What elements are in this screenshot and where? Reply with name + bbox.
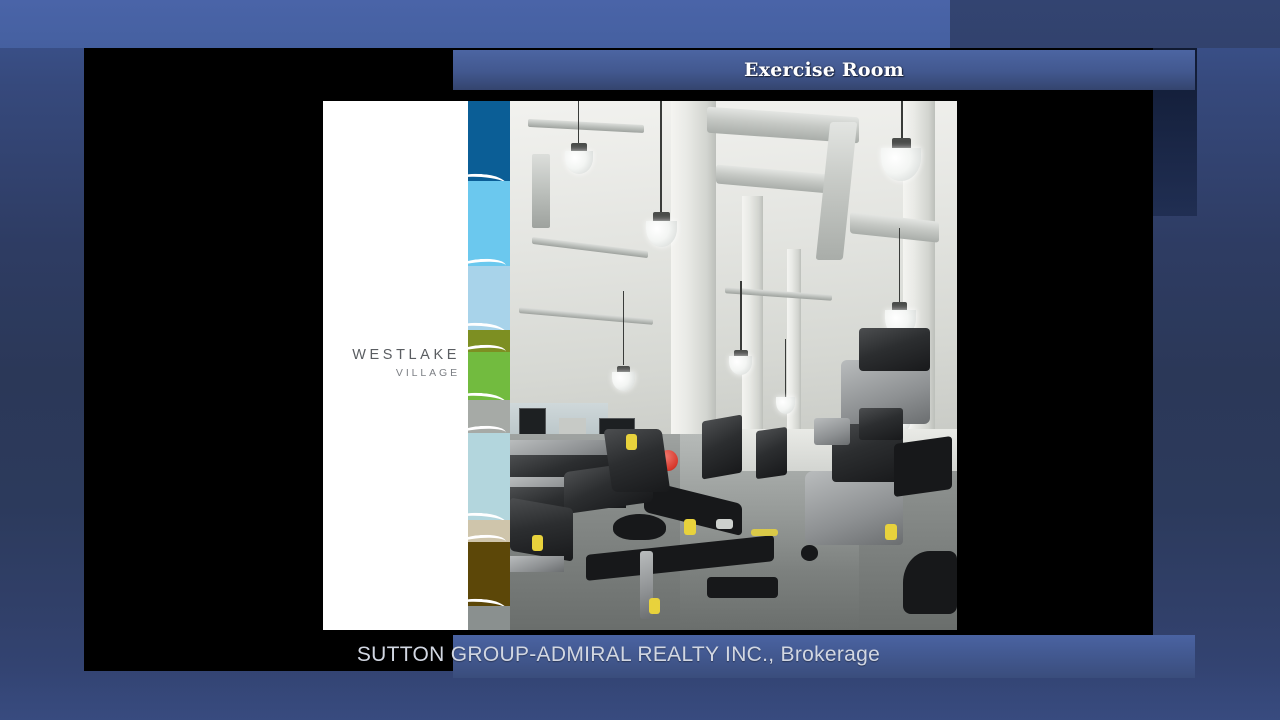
photo-floor-object — [716, 519, 734, 530]
photo-machine-back-far — [859, 408, 904, 440]
brand-color-strip — [468, 101, 510, 630]
color-band-pale-cyan — [468, 433, 510, 520]
logo-brand-name: WESTLAKE — [352, 347, 460, 364]
photo-wall-sign — [559, 418, 586, 434]
photo-recumbent-bike-3 — [903, 551, 957, 614]
color-band-dark-brown — [468, 542, 510, 606]
photo-lamp-cord-7 — [899, 228, 901, 302]
photo-treadmill-back-1 — [702, 415, 742, 480]
photo-spin-bike-mid-accent — [626, 434, 637, 450]
color-band-pale-blue — [468, 266, 510, 330]
color-band-cool-gray — [468, 606, 510, 630]
brokerage-caption: SUTTON GROUP-ADMIRAL REALTY INC., Broker… — [84, 643, 1153, 673]
photo-lamp-cord-4 — [740, 281, 742, 350]
logo-lockup: WESTLAKE VILLAGE — [352, 347, 468, 380]
exercise-room-photo — [510, 101, 957, 630]
photo-lamp-cord-1 — [578, 101, 580, 143]
background-top-right-band — [950, 0, 1280, 48]
photo-pipe-elbow — [532, 154, 550, 228]
color-band-sky-blue — [468, 181, 510, 266]
photo-lamp-cord-3 — [623, 291, 625, 365]
photo-spin-bike-accent-2 — [649, 598, 661, 614]
slide-title-banner: Exercise Room — [453, 50, 1195, 90]
photo-machine-back-right — [814, 418, 850, 444]
photo-lamp-cord-6 — [901, 101, 903, 138]
westlake-village-logo-panel: WESTLAKE VILLAGE — [323, 101, 468, 630]
photo-lamp-cord-5 — [785, 339, 787, 397]
photo-machine-left-rail — [510, 556, 564, 572]
photo-recumbent-bike-1-handle — [894, 435, 952, 496]
photo-floor-strap — [751, 529, 778, 535]
photo-recumbent-bike-2-console — [859, 328, 931, 370]
content-image-block: WESTLAKE VILLAGE — [323, 101, 957, 630]
photo-spin-bike-mid-body — [604, 429, 671, 492]
photo-machine-left — [510, 498, 573, 562]
logo-brand-subtitle: VILLAGE — [352, 367, 460, 380]
photo-treadmill-back-2 — [756, 427, 787, 479]
photo-spin-bike-saddle — [613, 514, 667, 540]
photo-machine-left-accent — [532, 535, 543, 551]
background-top-light-band — [0, 0, 950, 48]
photo-recumbent-accent-1 — [885, 524, 897, 540]
photo-spin-bike-accent-1 — [684, 519, 696, 535]
page-title: Exercise Room — [744, 59, 904, 81]
color-band-deep-blue — [468, 101, 510, 181]
photo-spin-bike-stabilizer — [707, 577, 779, 598]
photo-lamp-cord-2 — [660, 101, 662, 212]
